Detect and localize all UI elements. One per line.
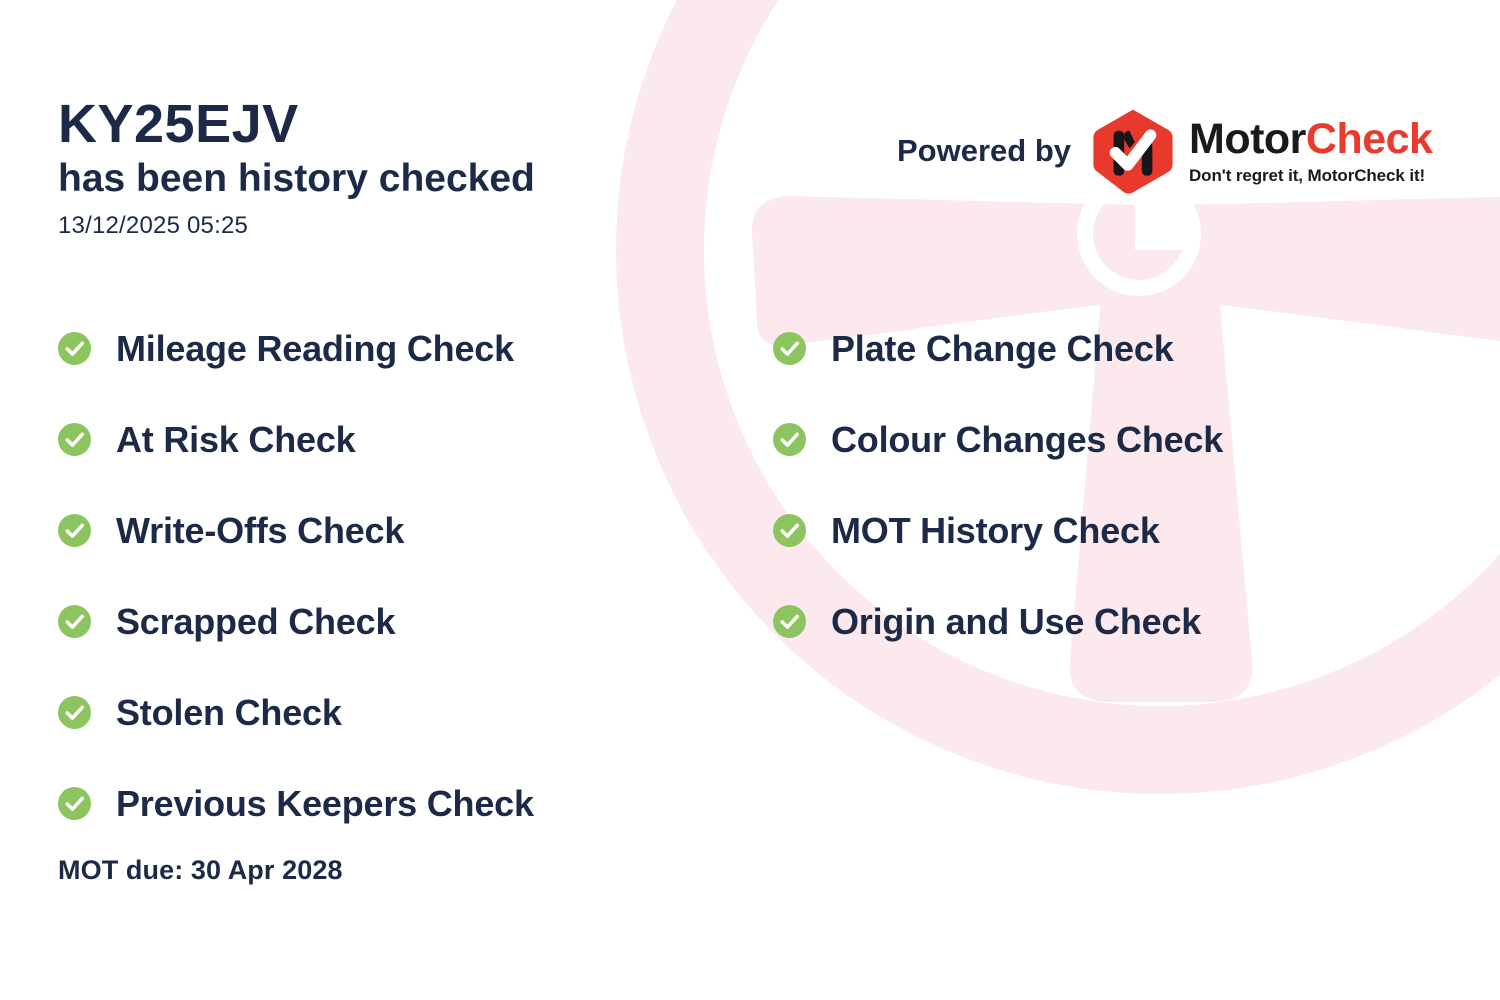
- check-item: Colour Changes Check: [773, 394, 1433, 485]
- check-item: Mileage Reading Check: [58, 303, 773, 394]
- green-check-circle-icon: [58, 423, 91, 456]
- check-item: Previous Keepers Check: [58, 758, 773, 849]
- check-label: Colour Changes Check: [831, 422, 1223, 458]
- green-check-circle-icon: [58, 514, 91, 547]
- check-label: Plate Change Check: [831, 331, 1174, 367]
- check-item: MOT History Check: [773, 485, 1433, 576]
- green-check-circle-icon: [58, 332, 91, 365]
- check-item: Origin and Use Check: [773, 576, 1433, 667]
- history-checked-statement: has been history checked: [58, 157, 758, 202]
- powered-by-label: Powered by: [897, 133, 1071, 169]
- steering-wheel-hub-ring: [1085, 180, 1193, 288]
- motorcheck-hexagon-logo-icon: [1089, 107, 1177, 195]
- history-check-card: KY25EJV has been history checked 13/12/2…: [0, 0, 1500, 1000]
- green-check-circle-icon: [773, 423, 806, 456]
- green-check-circle-icon: [773, 605, 806, 638]
- brand-tagline: Don't regret it, MotorCheck it!: [1189, 166, 1432, 186]
- check-item: Write-Offs Check: [58, 485, 773, 576]
- green-check-circle-icon: [58, 787, 91, 820]
- checks-section: Mileage Reading Check At Risk Check Writ…: [58, 303, 1448, 849]
- green-check-circle-icon: [773, 514, 806, 547]
- checks-column-right: Plate Change Check Colour Changes Check …: [773, 303, 1433, 849]
- check-item: Plate Change Check: [773, 303, 1433, 394]
- green-check-circle-icon: [773, 332, 806, 365]
- vehicle-registration-plate: KY25EJV: [58, 96, 758, 153]
- check-label: Scrapped Check: [116, 604, 395, 640]
- check-label: Mileage Reading Check: [116, 331, 514, 367]
- check-label: MOT History Check: [831, 513, 1160, 549]
- powered-by-block: Powered by MotorCheck Don't regret it, M…: [897, 107, 1432, 195]
- check-label: Stolen Check: [116, 695, 342, 731]
- motorcheck-wordmark: MotorCheck Don't regret it, MotorCheck i…: [1189, 118, 1432, 186]
- check-label: At Risk Check: [116, 422, 356, 458]
- check-item: Stolen Check: [58, 667, 773, 758]
- card-header: KY25EJV has been history checked 13/12/2…: [58, 96, 758, 240]
- wordmark-motor: Motor: [1189, 115, 1306, 163]
- check-label: Origin and Use Check: [831, 604, 1201, 640]
- check-label: Previous Keepers Check: [116, 786, 534, 822]
- green-check-circle-icon: [58, 696, 91, 729]
- check-item: At Risk Check: [58, 394, 773, 485]
- check-item: Scrapped Check: [58, 576, 773, 667]
- checks-column-left: Mileage Reading Check At Risk Check Writ…: [58, 303, 773, 849]
- green-check-circle-icon: [58, 605, 91, 638]
- wordmark-check: Check: [1306, 115, 1433, 163]
- check-label: Write-Offs Check: [116, 513, 404, 549]
- mot-due-text: MOT due: 30 Apr 2028: [58, 855, 343, 886]
- motorcheck-logo[interactable]: MotorCheck Don't regret it, MotorCheck i…: [1089, 107, 1432, 195]
- check-timestamp: 13/12/2025 05:25: [58, 212, 758, 240]
